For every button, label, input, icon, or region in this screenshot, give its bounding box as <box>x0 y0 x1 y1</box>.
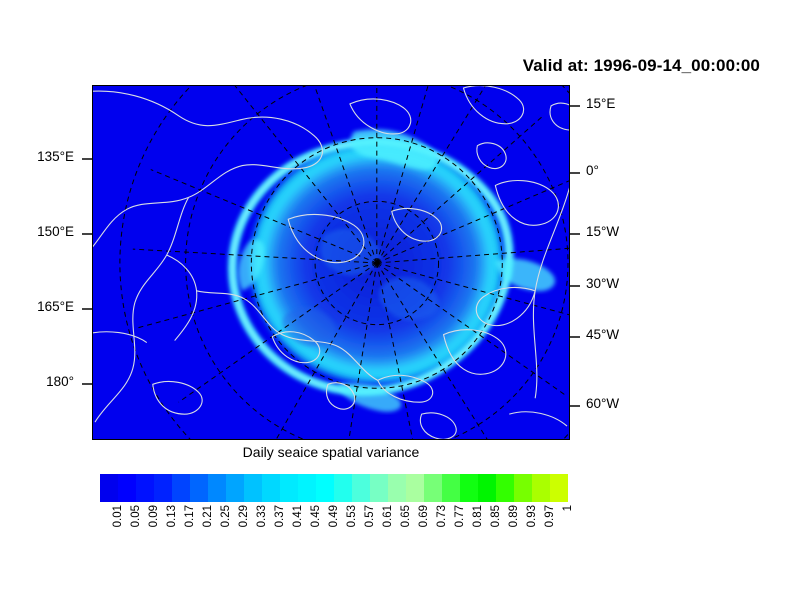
colorbar-band <box>100 474 118 502</box>
right-axis-label: 60°W <box>586 396 619 411</box>
colorbar-tick-label: 0.01 <box>112 505 124 527</box>
colorbar-tick-label: 0.17 <box>184 505 196 527</box>
colorbar-band <box>442 474 460 502</box>
left-axis-tick <box>82 158 92 160</box>
colorbar-tick-label: 0.37 <box>274 505 286 527</box>
colorbar-tick-label: 0.45 <box>310 505 322 527</box>
left-axis-label: 135°E <box>37 149 74 164</box>
colorbar-tick-label: 0.21 <box>202 505 214 527</box>
colorbar-band <box>388 474 406 502</box>
colorbar-tick-label: 0.53 <box>346 505 358 527</box>
colorbar-band <box>496 474 514 502</box>
colorbar-tick-label: 0.13 <box>166 505 178 527</box>
figure-root: Valid at: 1996-09-14_00:00:00 <box>0 0 792 612</box>
colorbar-band <box>262 474 280 502</box>
colorbar-band <box>154 474 172 502</box>
colorbar-band <box>316 474 334 502</box>
colorbar-tick-label: 0.41 <box>292 505 304 527</box>
colorbar-band <box>118 474 136 502</box>
colorbar-tick-label: 0.77 <box>454 505 466 527</box>
right-axis-label: 0° <box>586 163 599 178</box>
colorbar-band <box>352 474 370 502</box>
right-axis-tick <box>570 336 580 338</box>
right-axis-label: 30°W <box>586 276 619 291</box>
colorbar-tick-label: 0.93 <box>526 505 538 527</box>
colorbar-tick-label: 0.57 <box>364 505 376 527</box>
colorbar-tick-label: 0.69 <box>418 505 430 527</box>
colorbar-tick-label: 0.33 <box>256 505 268 527</box>
colorbar-band <box>244 474 262 502</box>
colorbar-tick-label: 0.49 <box>328 505 340 527</box>
colorbar-tick-labels: 0.010.050.090.130.170.210.250.290.330.37… <box>100 505 568 565</box>
colorbar-tick-label: 0.65 <box>400 505 412 527</box>
colorbar-tick-label: 0.97 <box>544 505 556 527</box>
right-axis-tick <box>570 405 580 407</box>
colorbar-band <box>208 474 226 502</box>
left-axis-tick <box>82 308 92 310</box>
colorbar-band <box>298 474 316 502</box>
left-axis-label: 150°E <box>37 224 74 239</box>
colorbar-tick-label: 0.25 <box>220 505 232 527</box>
right-axis-label: 15°W <box>586 224 619 239</box>
colorbar-band <box>478 474 496 502</box>
right-axis-tick <box>570 285 580 287</box>
colorbar-band <box>280 474 298 502</box>
colorbar-tick-label: 1 <box>562 505 574 511</box>
colorbar-band <box>406 474 424 502</box>
page-title: Valid at: 1996-09-14_00:00:00 <box>523 56 760 76</box>
colorbar-tick-label: 0.81 <box>472 505 484 527</box>
colorbar-band <box>172 474 190 502</box>
colorbar-band <box>136 474 154 502</box>
colorbar-band <box>532 474 550 502</box>
map-panel <box>92 85 570 440</box>
right-axis-label: 45°W <box>586 327 619 342</box>
colorbar-band <box>370 474 388 502</box>
left-axis-label: 165°E <box>37 299 74 314</box>
map-canvas <box>93 86 569 439</box>
colorbar-band <box>514 474 532 502</box>
colorbar-tick-label: 0.73 <box>436 505 448 527</box>
colorbar-band <box>226 474 244 502</box>
right-axis-tick <box>570 172 580 174</box>
colorbar-band <box>334 474 352 502</box>
colorbar-tick-label: 0.29 <box>238 505 250 527</box>
map-caption: Daily seaice spatial variance <box>92 444 570 460</box>
left-axis-tick <box>82 383 92 385</box>
right-axis-label: 15°E <box>586 96 615 111</box>
left-axis-label: 180° <box>46 374 74 389</box>
colorbar-band <box>424 474 442 502</box>
colorbar-tick-label: 0.61 <box>382 505 394 527</box>
colorbar <box>100 474 568 502</box>
colorbar-tick-label: 0.89 <box>508 505 520 527</box>
colorbar-tick-label: 0.05 <box>130 505 142 527</box>
colorbar-tick-label: 0.85 <box>490 505 502 527</box>
left-axis-tick <box>82 233 92 235</box>
right-axis-tick <box>570 233 580 235</box>
colorbar-band <box>550 474 568 502</box>
right-axis-tick <box>570 105 580 107</box>
colorbar-tick-label: 0.09 <box>148 505 160 527</box>
colorbar-band <box>460 474 478 502</box>
colorbar-band <box>190 474 208 502</box>
